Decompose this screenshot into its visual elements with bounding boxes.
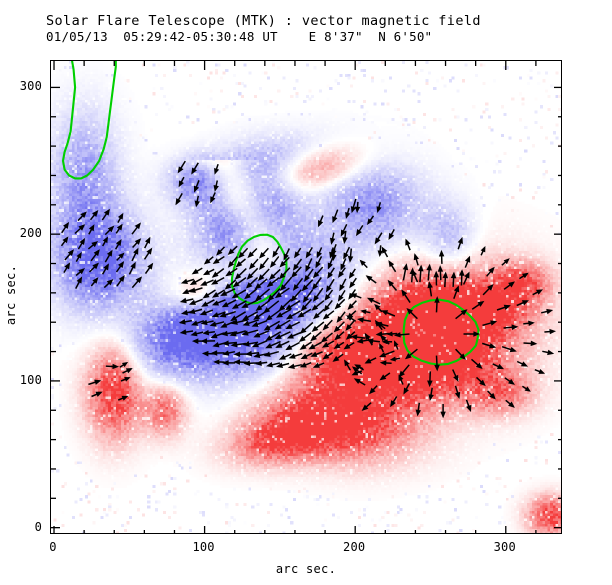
y-axis-title: arc sec. — [4, 250, 18, 340]
y-tick-label: 100 — [2, 373, 42, 387]
figure-title-block: Solar Flare Telescope (MTK) : vector mag… — [46, 14, 586, 45]
figure-title: Solar Flare Telescope (MTK) : vector mag… — [46, 14, 586, 30]
y-tick-label: 0 — [2, 520, 42, 534]
x-tick-label: 0 — [49, 540, 56, 554]
x-axis-title: arc sec. — [0, 562, 612, 576]
y-tick-label: 300 — [2, 79, 42, 93]
plot-area — [50, 60, 562, 534]
x-tick-label: 300 — [494, 540, 516, 554]
magnetogram-figure: Solar Flare Telescope (MTK) : vector mag… — [0, 0, 612, 585]
figure-subtitle: 01/05/13 05:29:42-05:30:48 UT E 8'37" N … — [46, 30, 586, 45]
magnetogram-canvas — [51, 61, 562, 534]
x-tick-label: 200 — [343, 540, 365, 554]
x-tick-label: 100 — [192, 540, 214, 554]
y-tick-label: 200 — [2, 226, 42, 240]
